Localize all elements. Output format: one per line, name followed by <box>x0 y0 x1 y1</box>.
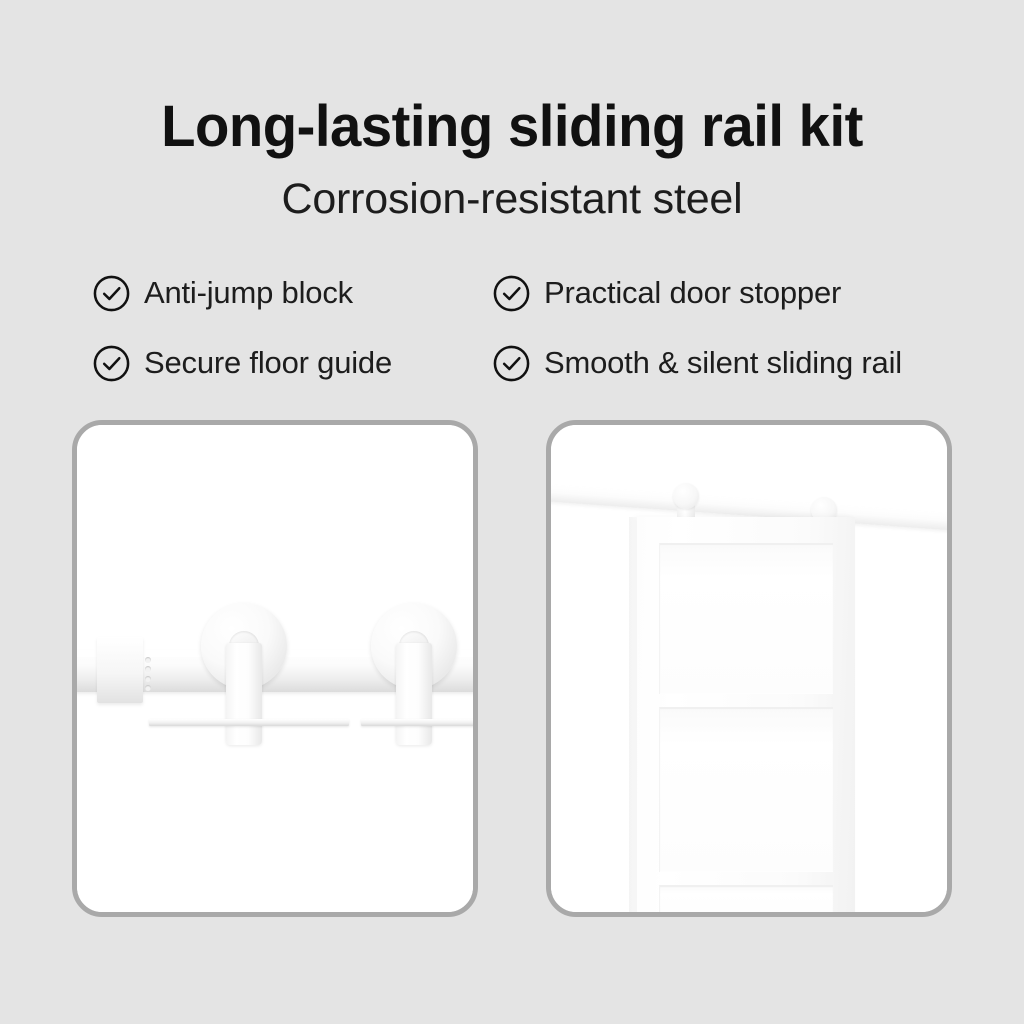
screw-dot <box>145 685 151 691</box>
feature-item-practical-door-stopper: Practical door stopper <box>492 258 952 328</box>
barn-door-slab <box>637 517 855 917</box>
hanger-strap <box>226 643 262 745</box>
hanger-strap <box>396 643 432 745</box>
page-subtitle: Corrosion-resistant steel <box>0 174 1024 224</box>
door-recessed-panel <box>659 543 833 694</box>
feature-item-anti-jump-block: Anti-jump block <box>92 258 492 328</box>
check-circle-icon <box>492 344 531 383</box>
door-stopper-block <box>97 637 143 703</box>
roller-hanger-assembly <box>187 603 287 727</box>
feature-label: Anti-jump block <box>144 275 353 311</box>
roller-hanger-assembly <box>357 603 457 727</box>
feature-list: Anti-jump block Practical door stopper S… <box>92 258 952 398</box>
feature-label: Smooth & silent sliding rail <box>544 345 902 381</box>
screw-dot <box>145 666 151 672</box>
screw-dot <box>145 676 151 682</box>
feature-label: Secure floor guide <box>144 345 392 381</box>
check-circle-icon <box>492 274 531 313</box>
stopper-screw-row <box>145 657 151 691</box>
feature-label: Practical door stopper <box>544 275 841 311</box>
floor-guide-blade <box>361 719 478 726</box>
feature-item-secure-floor-guide: Secure floor guide <box>92 328 492 398</box>
page-title: Long-lasting sliding rail kit <box>15 96 1008 158</box>
door-recessed-panel <box>659 885 833 917</box>
screw-dot <box>145 657 151 663</box>
installed-door-illustration <box>551 425 947 912</box>
product-image-panel-installed-door <box>546 420 952 917</box>
product-image-panel-rail-hardware <box>72 420 478 917</box>
floor-guide-blade <box>149 719 349 726</box>
door-recessed-panel <box>659 707 833 872</box>
check-circle-icon <box>92 344 131 383</box>
product-feature-card: Long-lasting sliding rail kit Corrosion-… <box>0 0 1024 1024</box>
check-circle-icon <box>92 274 131 313</box>
feature-item-smooth-silent-sliding-rail: Smooth & silent sliding rail <box>492 328 952 398</box>
rail-hardware-illustration <box>77 425 473 912</box>
